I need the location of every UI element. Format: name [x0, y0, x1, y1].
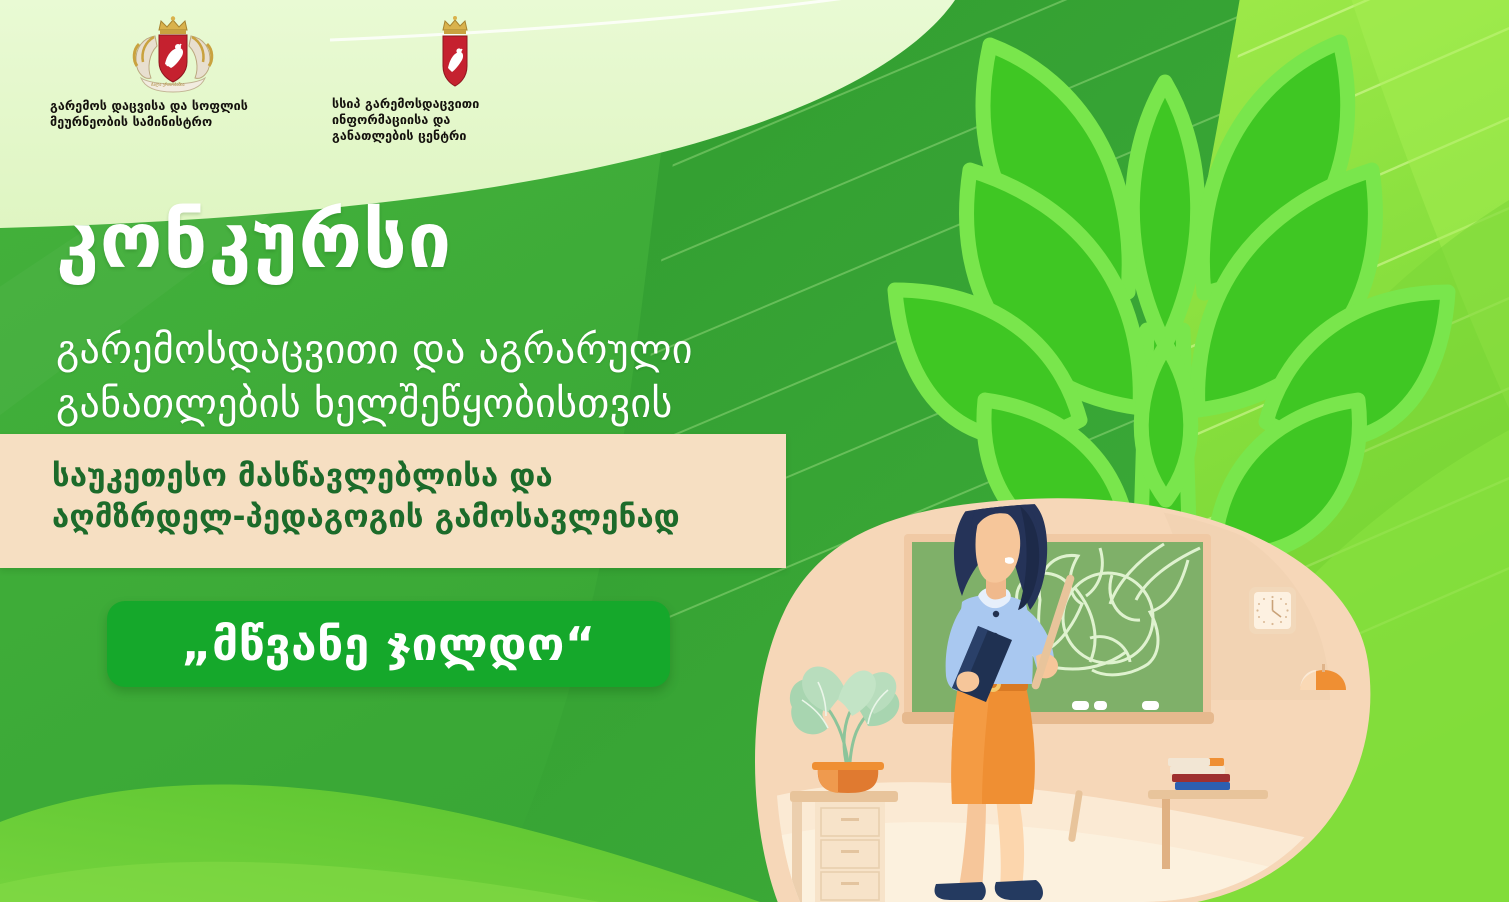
center-logo-caption: სსიპ გარემოსდაცვითი ინფორმაციისა და განა… — [330, 96, 580, 144]
chalkboard-ledge — [902, 712, 1214, 724]
ministry-logo-caption: გარემოს დაცვისა და სოფლის მეურნეობის სამ… — [48, 98, 298, 130]
poster-canvas: .leaf{fill:#3fc723;stroke:#79e64c;stroke… — [0, 0, 1509, 902]
ministry-logo: ძალა ერთობაშია გარემოს დაცვისა და სოფლის… — [48, 16, 298, 130]
page-subtitle: გარემოსდაცვითი და აგრარული განათლების ხე… — [56, 323, 693, 431]
logo-row: ძალა ერთობაშია გარემოს დაცვისა და სოფლის… — [0, 0, 760, 150]
georgia-coat-of-arms-shield-icon — [330, 14, 580, 92]
award-badge-label: „მწვანე ჯილდო“ — [181, 617, 595, 671]
page-subtitle-line-2: განათლების ხელშეწყობისთვის — [56, 377, 693, 431]
chalk-piece-2 — [1094, 701, 1107, 710]
teacher-shoe-back — [935, 882, 986, 900]
chalk-piece-1 — [1072, 701, 1089, 710]
page-subtitle-line-1: გარემოსდაცვითი და აგრარული — [56, 323, 693, 377]
highlight-banner-line-1: საუკეთესო მასწავლებლისა და — [52, 456, 786, 497]
chalk-piece-3 — [1142, 701, 1159, 710]
svg-text:ძალა ერთობაშია: ძალა ერთობაშია — [151, 82, 185, 87]
teacher-shoe-front — [995, 880, 1043, 900]
georgia-coat-of-arms-full-icon: ძალა ერთობაშია — [48, 16, 298, 94]
center-logo: სსიპ გარემოსდაცვითი ინფორმაციისა და განა… — [330, 14, 580, 144]
wall-clock — [1249, 587, 1296, 634]
highlight-banner-line-2: აღმზრდელ-პედაგოგის გამოსავლენად — [52, 497, 786, 538]
award-badge: „მწვანე ჯილდო“ — [107, 601, 670, 687]
highlight-banner: საუკეთესო მასწავლებლისა და აღმზრდელ-პედა… — [0, 434, 786, 568]
page-title: კონკურსი — [56, 203, 452, 280]
teacher-mouth — [1005, 557, 1014, 564]
